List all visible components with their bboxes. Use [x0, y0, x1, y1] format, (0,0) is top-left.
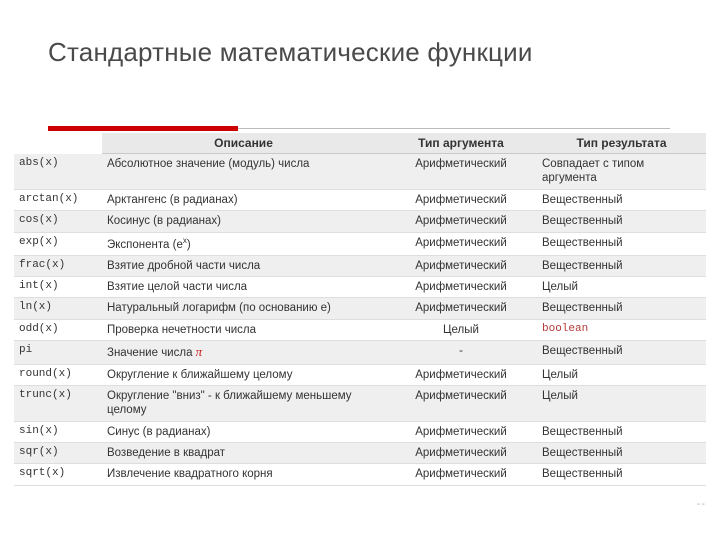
- function-description: Экспонента (ex): [102, 232, 385, 255]
- pi-symbol: π: [196, 344, 203, 359]
- title-divider-line: [238, 128, 670, 129]
- table-row: trunc(x) Округление "вниз" - к ближайшем…: [14, 385, 706, 421]
- function-arg-type: -: [385, 341, 537, 364]
- function-arg-type: Арифметический: [385, 385, 537, 421]
- function-result-type: Вещественный: [537, 298, 706, 319]
- table-row: ln(x) Натуральный логарифм (по основанию…: [14, 298, 706, 319]
- function-arg-type: Арифметический: [385, 232, 537, 255]
- table-row: pi Значение числа π - Вещественный: [14, 341, 706, 364]
- function-arg-type: Арифметический: [385, 211, 537, 232]
- function-result-type: Вещественный: [537, 189, 706, 210]
- function-arg-type: Арифметический: [385, 189, 537, 210]
- table-row: odd(x) Проверка нечетности числа Целый b…: [14, 319, 706, 340]
- function-description: Арктангенс (в радианах): [102, 189, 385, 210]
- function-result-type: boolean: [537, 319, 706, 340]
- function-name: ln(x): [14, 298, 102, 319]
- function-arg-type: Целый: [385, 319, 537, 340]
- function-name: pi: [14, 341, 102, 364]
- function-result-type: Вещественный: [537, 443, 706, 464]
- function-name: cos(x): [14, 211, 102, 232]
- table-row: round(x) Округление к ближайшему целому …: [14, 364, 706, 385]
- function-name: sqr(x): [14, 443, 102, 464]
- table-row: sin(x) Синус (в радианах) Арифметический…: [14, 421, 706, 442]
- function-name: sin(x): [14, 421, 102, 442]
- function-result-type: Совпадает с типом аргумента: [537, 154, 706, 190]
- table-row: exp(x) Экспонента (ex) Арифметический Ве…: [14, 232, 706, 255]
- function-arg-type: Арифметический: [385, 277, 537, 298]
- function-name: int(x): [14, 277, 102, 298]
- function-name: sqrt(x): [14, 464, 102, 485]
- function-name: trunc(x): [14, 385, 102, 421]
- function-description: Абсолютное значение (модуль) числа: [102, 154, 385, 190]
- column-header-description: Описание: [102, 133, 385, 154]
- function-arg-type: Арифметический: [385, 464, 537, 485]
- function-arg-type: Арифметический: [385, 255, 537, 276]
- function-description: Значение числа π: [102, 341, 385, 364]
- function-arg-type: Арифметический: [385, 298, 537, 319]
- functions-table-body: abs(x) Абсолютное значение (модуль) числ…: [14, 154, 706, 486]
- function-description: Извлечение квадратного корня: [102, 464, 385, 485]
- corner-mark: --: [697, 498, 706, 510]
- function-description: Синус (в радианах): [102, 421, 385, 442]
- function-description: Возведение в квадрат: [102, 443, 385, 464]
- function-arg-type: Арифметический: [385, 364, 537, 385]
- table-row: int(x) Взятие целой части числа Арифмети…: [14, 277, 706, 298]
- function-name: abs(x): [14, 154, 102, 190]
- function-result-type: Вещественный: [537, 464, 706, 485]
- column-header-result-type: Тип результата: [537, 133, 706, 154]
- page-title: Стандартные математические функции: [48, 36, 648, 69]
- function-name: frac(x): [14, 255, 102, 276]
- slide: Стандартные математические функции Описа…: [0, 0, 720, 540]
- function-description: Проверка нечетности числа: [102, 319, 385, 340]
- function-arg-type: Арифметический: [385, 421, 537, 442]
- function-description: Натуральный логарифм (по основанию e): [102, 298, 385, 319]
- function-result-type: Вещественный: [537, 255, 706, 276]
- function-description: Косинус (в радианах): [102, 211, 385, 232]
- column-header-name: [14, 133, 102, 154]
- table-row: cos(x) Косинус (в радианах) Арифметическ…: [14, 211, 706, 232]
- function-name: arctan(x): [14, 189, 102, 210]
- function-description: Взятие дробной части числа: [102, 255, 385, 276]
- function-name: odd(x): [14, 319, 102, 340]
- function-description: Взятие целой части числа: [102, 277, 385, 298]
- table-row: arctan(x) Арктангенс (в радианах) Арифме…: [14, 189, 706, 210]
- column-header-arg-type: Тип аргумента: [385, 133, 537, 154]
- function-result-type: Вещественный: [537, 232, 706, 255]
- table-row: sqr(x) Возведение в квадрат Арифметическ…: [14, 443, 706, 464]
- function-arg-type: Арифметический: [385, 154, 537, 190]
- functions-table: Описание Тип аргумента Тип результата ab…: [14, 133, 706, 486]
- table-row: abs(x) Абсолютное значение (модуль) числ…: [14, 154, 706, 190]
- function-result-type: Целый: [537, 277, 706, 298]
- function-result-type: Целый: [537, 364, 706, 385]
- table-row: sqrt(x) Извлечение квадратного корня Ари…: [14, 464, 706, 485]
- function-result-type: Вещественный: [537, 421, 706, 442]
- function-result-type: Вещественный: [537, 211, 706, 232]
- function-name: round(x): [14, 364, 102, 385]
- function-name: exp(x): [14, 232, 102, 255]
- table-row: frac(x) Взятие дробной части числа Арифм…: [14, 255, 706, 276]
- title-accent-bar: [48, 126, 238, 131]
- function-description: Округление к ближайшему целому: [102, 364, 385, 385]
- function-description: Округление "вниз" - к ближайшему меньшем…: [102, 385, 385, 421]
- function-result-type: Целый: [537, 385, 706, 421]
- function-result-type: Вещественный: [537, 341, 706, 364]
- function-arg-type: Арифметический: [385, 443, 537, 464]
- table-header-row: Описание Тип аргумента Тип результата: [14, 133, 706, 154]
